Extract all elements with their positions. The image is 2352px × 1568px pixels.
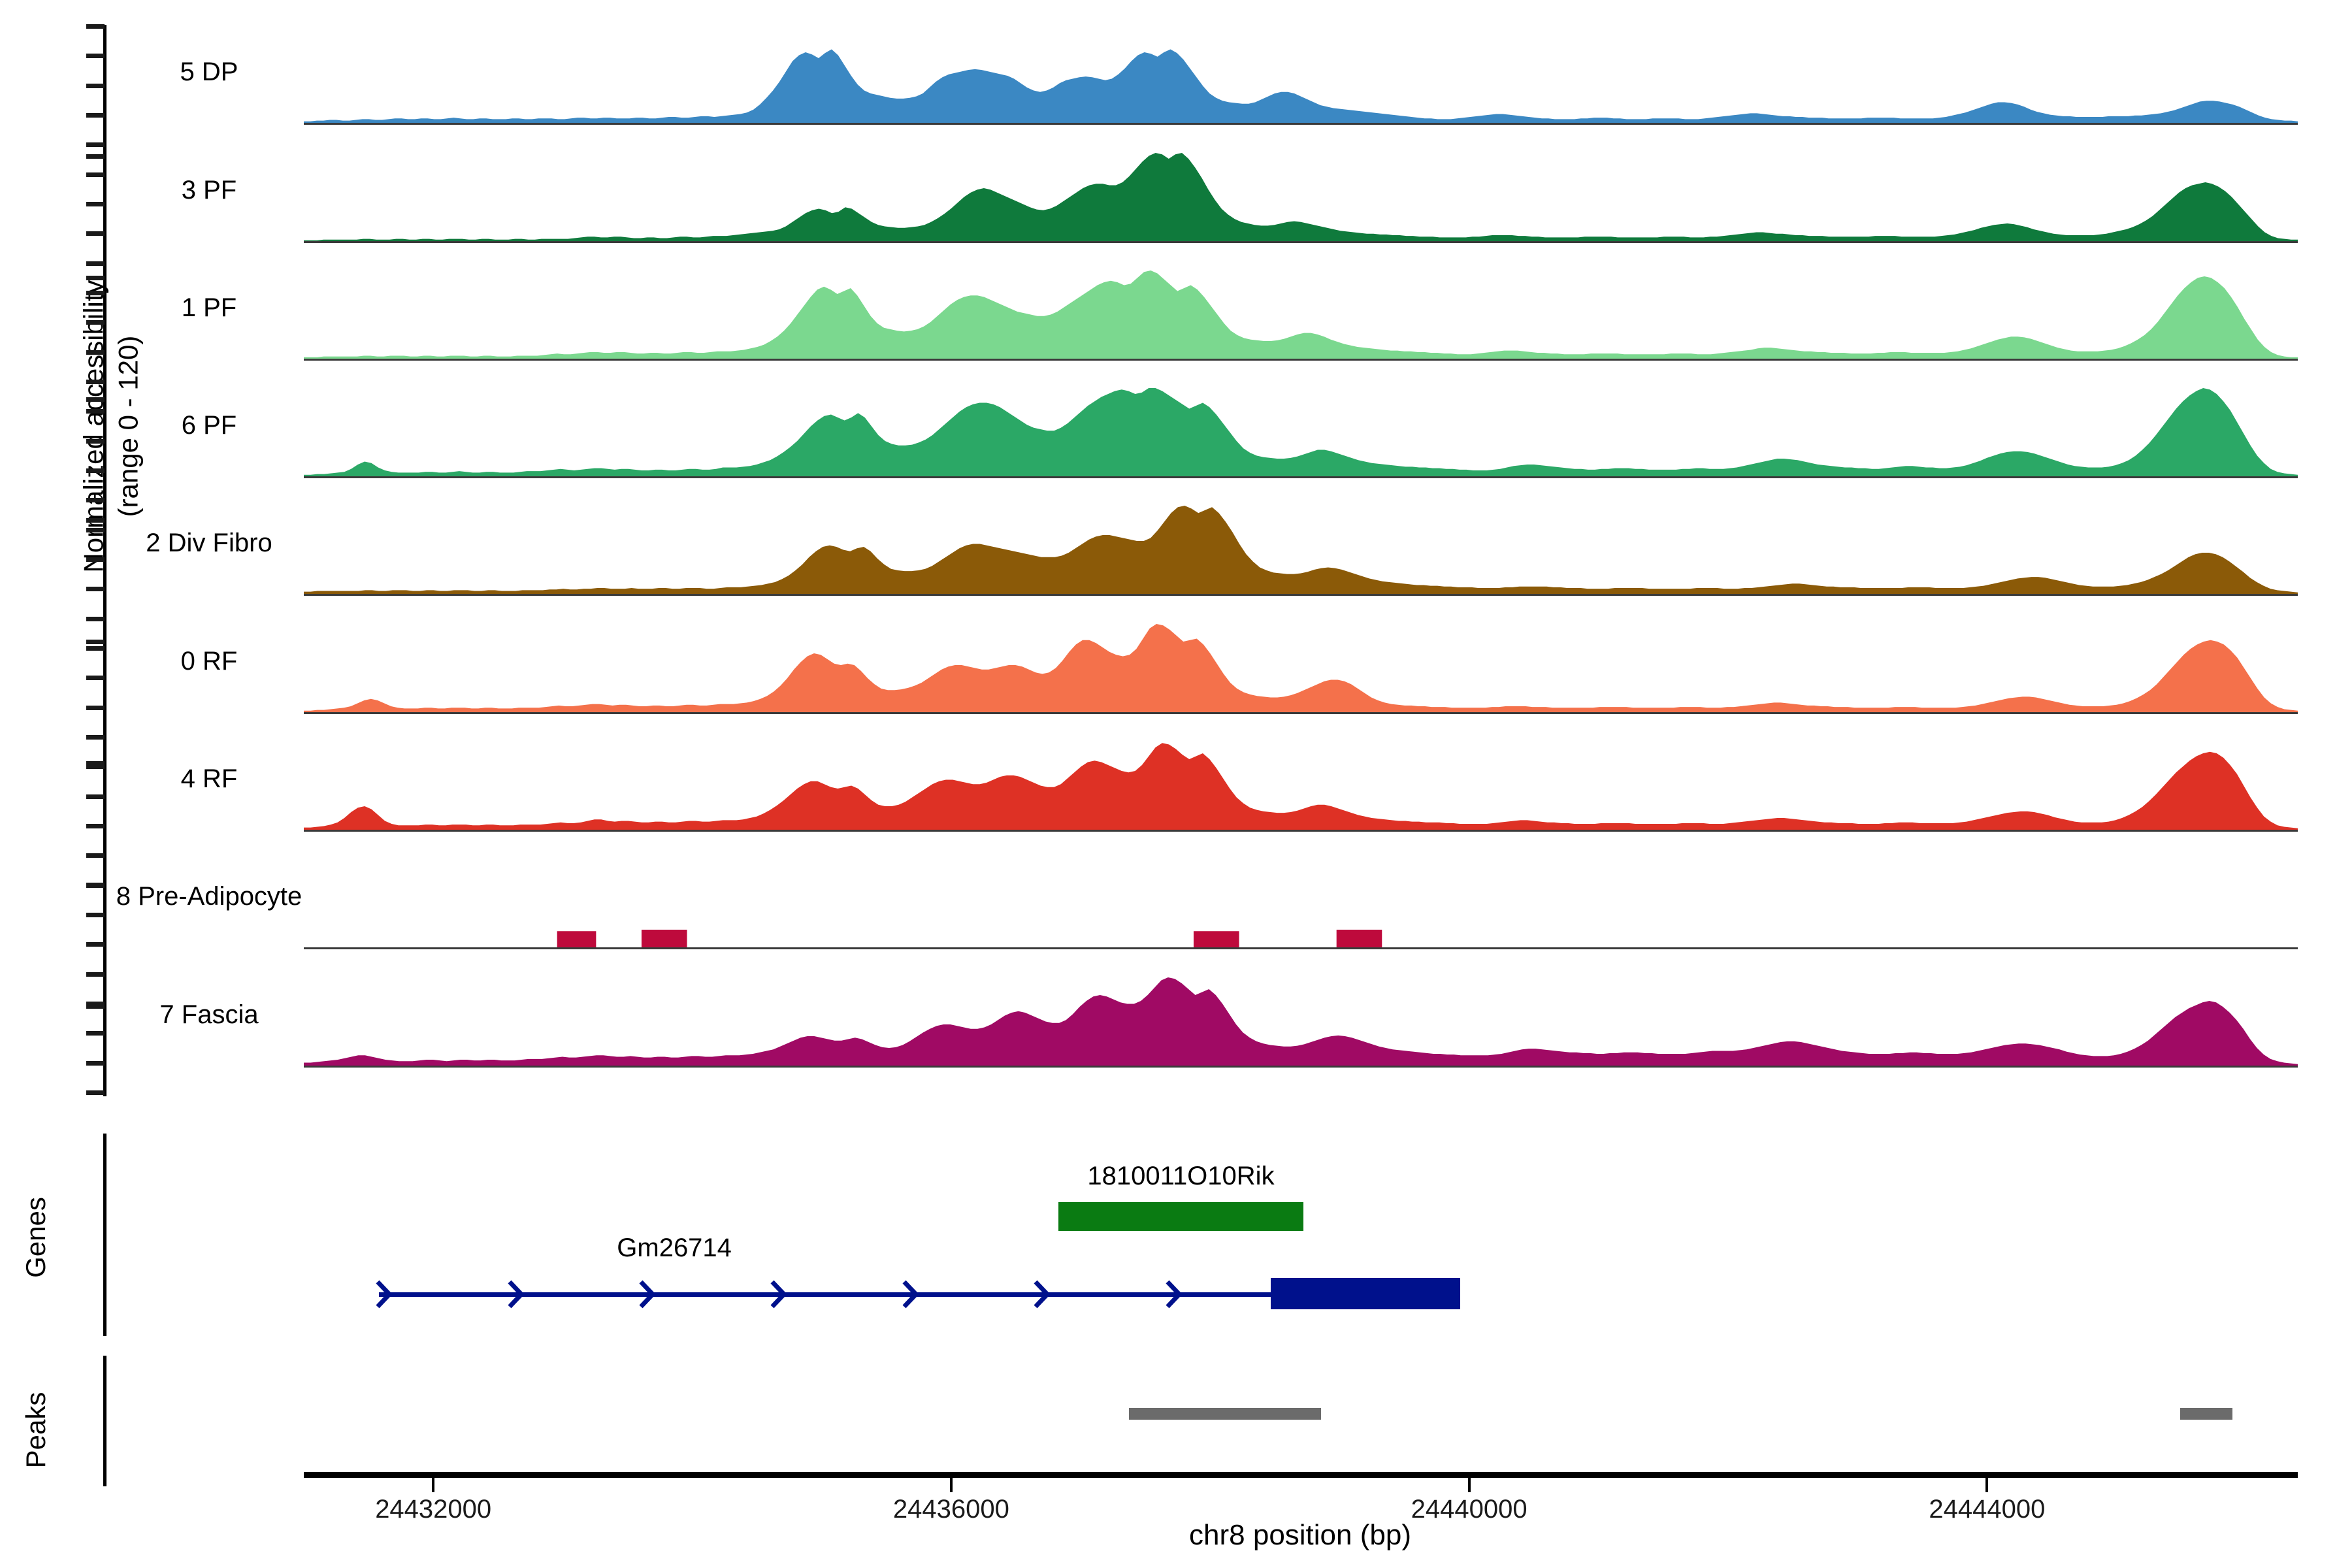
gene-block-1810011o10rik[interactable]: [1058, 1202, 1303, 1231]
axis-tick: [86, 468, 105, 473]
axis-tick: [86, 439, 105, 444]
axis-tick: [86, 350, 105, 355]
axis-tick: [86, 735, 105, 740]
axis-tick: [86, 528, 105, 532]
axis-tick: [86, 172, 105, 177]
x-axis-tick-label: 24444000: [1929, 1495, 2045, 1524]
axis-tick: [86, 231, 105, 236]
strand-arrow-icon: [507, 1279, 529, 1309]
axis-tick: [86, 587, 105, 591]
axis-tick: [86, 1061, 105, 1066]
track-label-7-fascia: 7 Fascia: [159, 1000, 258, 1030]
x-axis-line: [304, 1472, 2298, 1478]
axis-tick: [86, 84, 105, 88]
x-axis-tick: [432, 1478, 434, 1492]
axis-tick: [86, 972, 105, 977]
x-axis-tick-label: 24440000: [1411, 1495, 1527, 1524]
peaks-axis-label: Peaks: [20, 1358, 52, 1502]
coverage-area-4-rf: [304, 742, 2298, 832]
strand-arrow-icon: [770, 1279, 792, 1309]
coverage-polygon: [304, 930, 2298, 947]
coverage-area-8-pre-adipocyte: [304, 859, 2298, 950]
axis-tick: [86, 794, 105, 799]
x-axis-tick: [1468, 1478, 1471, 1492]
axis-tick-minor: [86, 1004, 105, 1009]
strand-arrow-icon: [902, 1279, 924, 1309]
track-label-6-pf: 6 PF: [182, 411, 237, 440]
gene-label-1810011o10rik: 1810011O10Rik: [1087, 1162, 1274, 1191]
axis-tick: [86, 1090, 105, 1095]
strand-arrow-icon: [1033, 1279, 1055, 1309]
axis-tick: [86, 617, 105, 621]
coverage-area-7-fascia: [304, 977, 2298, 1068]
peak-bar[interactable]: [2180, 1408, 2232, 1420]
genome-browser-figure: Normalized accessibility (range 0 - 120)…: [0, 0, 2352, 1568]
axis-tick: [86, 1031, 105, 1036]
axis-tick-minor: [86, 640, 105, 644]
peak-bar[interactable]: [1129, 1408, 1321, 1420]
x-axis-tick-label: 24436000: [893, 1495, 1009, 1524]
track-label-1-pf: 1 PF: [182, 293, 237, 323]
axis-tick: [86, 113, 105, 118]
axis-tick: [86, 676, 105, 680]
track-label-8-pre-adipocyte: 8 Pre-Adipocyte: [116, 882, 302, 911]
coverage-polygon: [304, 153, 2298, 241]
axis-tick: [86, 320, 105, 325]
x-axis-tick: [950, 1478, 953, 1492]
x-axis-tick: [1985, 1478, 1988, 1492]
coverage-polygon: [304, 388, 2298, 476]
gene-label-gm26714: Gm26714: [617, 1233, 732, 1263]
coverage-polygon: [304, 743, 2298, 830]
axis-tick-minor: [86, 397, 105, 402]
x-axis-label: chr8 position (bp): [1189, 1519, 1411, 1552]
coverage-area-6-pf: [304, 388, 2298, 479]
axis-tick: [86, 380, 105, 384]
x-axis-tick-label: 24432000: [375, 1495, 491, 1524]
axis-tick-minor: [86, 883, 105, 887]
axis-tick: [86, 291, 105, 295]
axis-tick: [86, 706, 105, 710]
coverage-polygon: [304, 624, 2298, 712]
track-label-0-rf: 0 RF: [181, 647, 238, 676]
axis-tick: [86, 24, 105, 29]
axis-tick: [86, 646, 105, 651]
coverage-area-2-div-fibro: [304, 506, 2298, 596]
axis-tick: [86, 498, 105, 502]
genes-axis-label: Genes: [20, 1166, 52, 1309]
coverage-polygon: [304, 270, 2298, 359]
strand-arrow-icon: [1165, 1279, 1187, 1309]
axis-tick-minor: [86, 276, 105, 280]
track-label-5-dp: 5 DP: [180, 57, 238, 87]
axis-tick: [86, 853, 105, 858]
axis-tick: [86, 913, 105, 917]
coverage-area-5-dp: [304, 35, 2298, 125]
coverage-area-3-pf: [304, 153, 2298, 244]
axis-tick-minor: [86, 518, 105, 523]
axis-tick: [86, 824, 105, 828]
coverage-area-0-rf: [304, 624, 2298, 715]
axis-tick: [86, 142, 105, 147]
coverage-polygon: [304, 50, 2298, 123]
gene-exon-gm26714[interactable]: [1271, 1278, 1460, 1309]
coverage-polygon: [304, 506, 2298, 594]
axis-tick: [86, 942, 105, 947]
genes-axis-spine: [103, 1134, 106, 1336]
axis-tick: [86, 202, 105, 206]
axis-tick: [86, 409, 105, 414]
coverage-area-1-pf: [304, 270, 2298, 361]
axis-tick: [86, 557, 105, 562]
peaks-axis-spine: [103, 1356, 106, 1486]
coverage-polygon: [304, 977, 2298, 1066]
track-label-2-div-fibro: 2 Div Fibro: [146, 529, 272, 558]
axis-tick-minor: [86, 154, 105, 159]
track-label-4-rf: 4 RF: [181, 764, 238, 794]
track-label-3-pf: 3 PF: [182, 176, 237, 205]
axis-tick-minor: [86, 761, 105, 766]
axis-tick: [86, 261, 105, 266]
strand-arrow-icon: [375, 1279, 397, 1309]
strand-arrow-icon: [638, 1279, 661, 1309]
axis-tick: [86, 54, 105, 58]
